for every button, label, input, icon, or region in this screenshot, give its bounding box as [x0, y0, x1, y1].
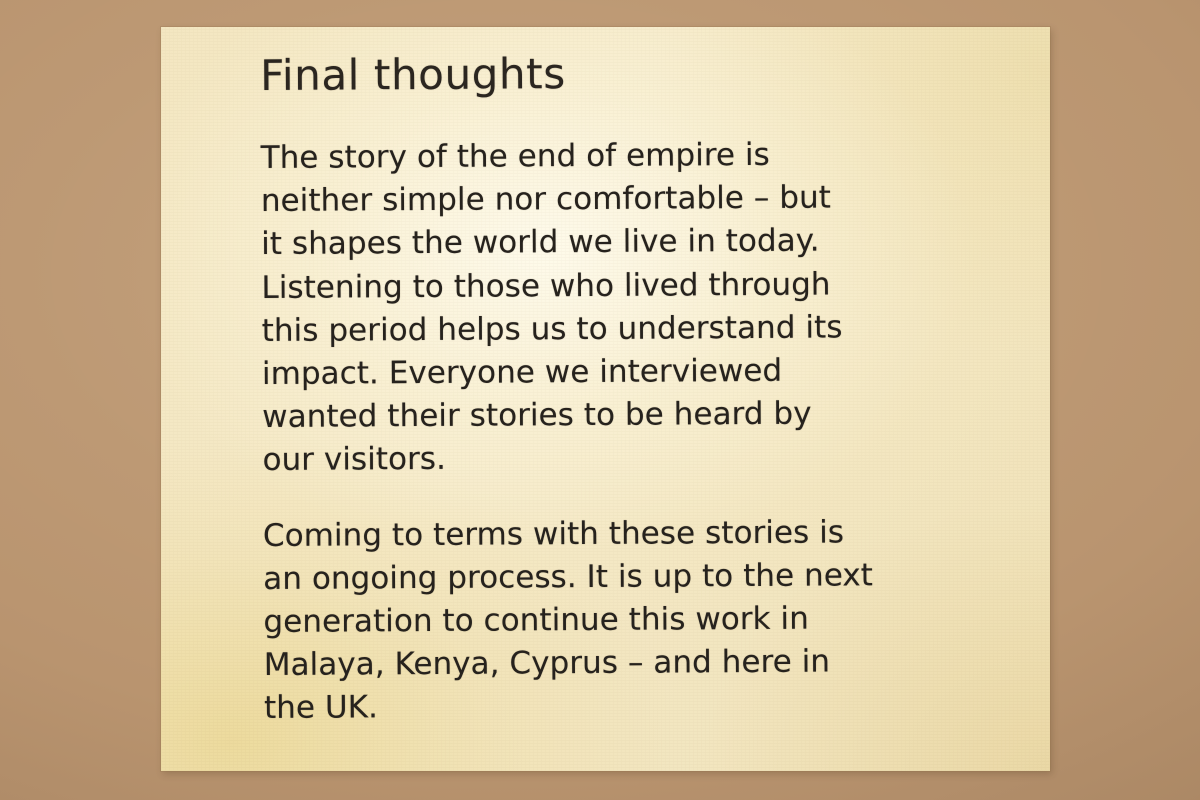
- panel-paragraph-2: Coming to terms with these stories is an…: [263, 510, 1004, 731]
- panel-paragraph-1: The story of the end of empire is neithe…: [261, 132, 1003, 482]
- panel-title: Final thoughts: [260, 44, 1000, 103]
- museum-text-panel: Final thoughts The story of the end of e…: [161, 27, 1050, 771]
- exhibition-panel-photograph: Final thoughts The story of the end of e…: [0, 0, 1200, 800]
- panel-content: Final thoughts The story of the end of e…: [260, 44, 1004, 730]
